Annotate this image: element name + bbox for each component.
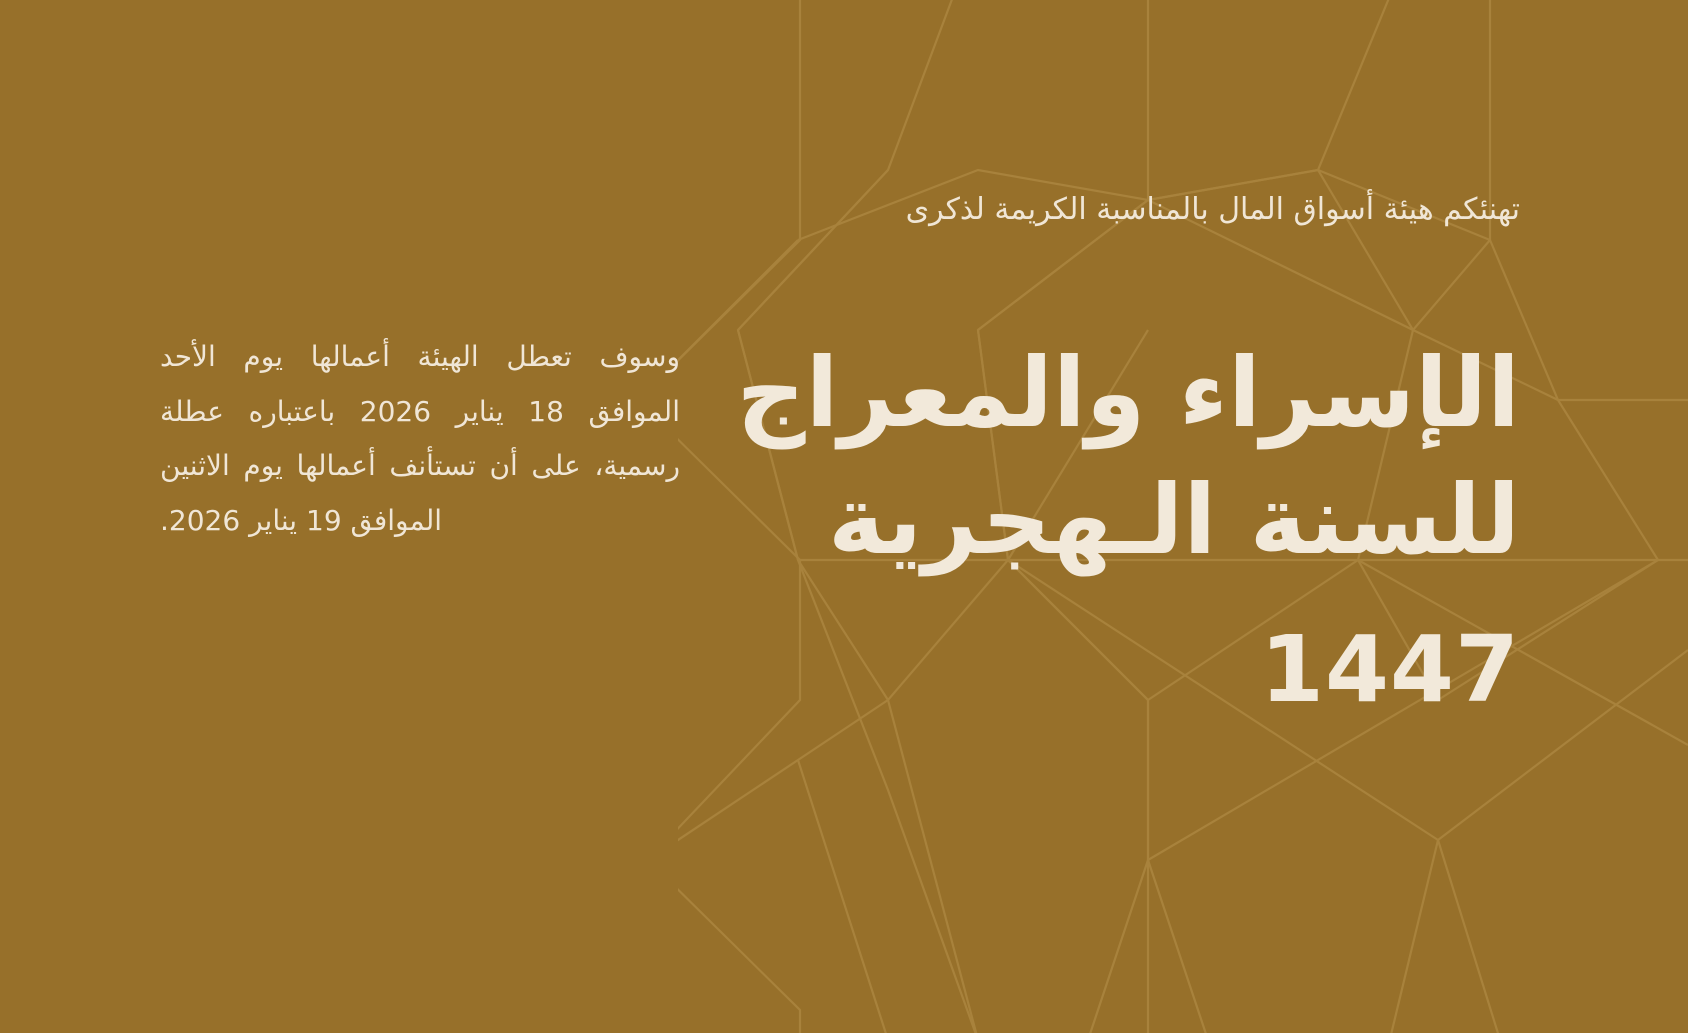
left-column: وسوف تعطل الهيئة أعمالها يوم الأحد الموا…: [0, 330, 680, 548]
headline-line-1: الإسراء والمعراج: [790, 330, 1520, 457]
right-column: تهنئكم هيئة أسواق المال بالمناسبة الكريم…: [678, 0, 1688, 1033]
poster-content: تهنئكم هيئة أسواق المال بالمناسبة الكريم…: [0, 0, 1688, 1033]
poster-canvas: تهنئكم هيئة أسواق المال بالمناسبة الكريم…: [0, 0, 1688, 1033]
greeting-kicker: تهنئكم هيئة أسواق المال بالمناسبة الكريم…: [800, 190, 1520, 231]
headline-line-2: للسنة الـهجرية: [790, 457, 1520, 584]
headline: الإسراء والمعراج للسنة الـهجرية: [790, 330, 1520, 583]
hijri-year: 1447: [1260, 624, 1520, 716]
body-paragraph: وسوف تعطل الهيئة أعمالها يوم الأحد الموا…: [160, 330, 680, 548]
